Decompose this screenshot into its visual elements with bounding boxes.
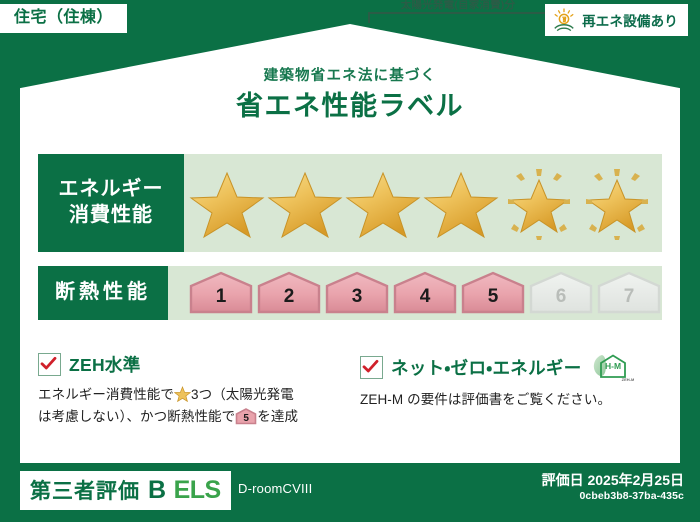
energy-label-line2: 消費性能	[69, 203, 153, 229]
net-zero-energy-statement: ネット・ゼロ・エネルギー H-M ZEH-M ZEH-M の要件は評価書をご覧く…	[360, 352, 660, 411]
bels-logo: 第三者評価 BELS	[20, 471, 231, 510]
insulation-level-number: 5	[460, 286, 526, 308]
insulation-level-house: 3	[324, 271, 390, 315]
third-party-label: 第三者評価	[30, 475, 140, 505]
insulation-row-label: 断熱性能	[38, 266, 168, 320]
room-name: D-roomCVIII	[238, 481, 312, 496]
solar-annotation-label: 太陽光発電(自家消費)分	[362, 0, 554, 12]
svg-text:H-M: H-M	[604, 361, 620, 371]
zeh-text-part3: は考慮しない）、かつ断熱性能で	[38, 409, 235, 424]
insulation-levels-container: 1 2 3 4 5 6	[168, 266, 662, 320]
insulation-level-house: 2	[256, 271, 322, 315]
insulation-performance-row: 断熱性能 1 2 3	[38, 266, 662, 320]
insulation-level-number: 3	[324, 286, 390, 308]
svg-text:ZEH-M: ZEH-M	[621, 377, 633, 382]
bels-letters-els: ELS	[174, 476, 221, 505]
renewable-energy-badge: 再エネ設備あり	[545, 4, 688, 36]
net-zero-title: ネット・ゼロ・エネルギー	[391, 355, 582, 380]
zeh-text-part1: エネルギー消費性能で	[38, 387, 174, 402]
insulation-level-house: 5	[460, 271, 526, 315]
star-rating-icon-solar	[500, 166, 578, 240]
page-title: 省エネ性能ラベル	[0, 84, 700, 123]
renewable-badge-label: 再エネ設備あり	[582, 10, 678, 30]
building-type-tag: 住宅（住棟）	[0, 4, 127, 33]
star-rating-icon-solar	[578, 166, 656, 240]
energy-performance-row: エネルギー 消費性能	[38, 154, 662, 252]
net-zero-text: ZEH-M の要件は評価書をご覧ください。	[360, 389, 660, 411]
evaluation-id: 0cbeb3b8-37ba-435c	[579, 490, 684, 502]
insulation-level-house: 4	[392, 271, 458, 315]
zeh-standard-header: ZEH水準	[38, 352, 338, 377]
zeh-text-part2: 3つ（太陽光発電	[191, 387, 294, 402]
sun-icon	[551, 8, 577, 32]
zeh-m-logo-icon: H-M ZEH-M	[588, 352, 634, 382]
star-rating-icon	[344, 166, 422, 240]
insulation-level-number: 1	[188, 286, 254, 308]
checkbox-checked-icon	[38, 353, 61, 376]
bels-energy-label: 住宅（住棟） 再エネ設備あり 建築物省エネ法に基づく 省エネ性能ラベル	[0, 0, 700, 522]
insulation-level-number: 6	[528, 286, 594, 308]
star-rating-icon	[188, 166, 266, 240]
zeh-standard-title: ZEH水準	[69, 352, 141, 377]
inline-house-icon: 5	[235, 408, 257, 425]
bels-letter-b: B	[148, 476, 166, 505]
insulation-level-number: 7	[596, 286, 662, 308]
zeh-standard-text: エネルギー消費性能で3つ（太陽光発電 は考慮しない）、かつ断熱性能で5を達成	[38, 384, 338, 428]
net-zero-header: ネット・ゼロ・エネルギー H-M ZEH-M	[360, 352, 660, 382]
building-type-label: 住宅（住棟）	[14, 9, 113, 26]
insulation-level-house: 1	[188, 271, 254, 315]
label-subtitle: 建築物省エネ法に基づく	[0, 64, 700, 85]
checkbox-checked-icon	[360, 356, 383, 379]
insulation-level-number: 2	[256, 286, 322, 308]
insulation-level-number: 4	[392, 286, 458, 308]
evaluation-date: 評価日 2025年2月25日	[542, 470, 684, 490]
statement-divider	[349, 350, 350, 428]
energy-label-line1: エネルギー	[59, 177, 164, 203]
energy-row-label: エネルギー 消費性能	[38, 154, 184, 252]
inline-house-value: 5	[235, 411, 257, 427]
zeh-standard-statement: ZEH水準 エネルギー消費性能で3つ（太陽光発電 は考慮しない）、かつ断熱性能で…	[38, 352, 338, 428]
zeh-text-part4: を達成	[257, 409, 298, 424]
solar-annotation-bracket	[368, 12, 552, 23]
star-rating-icon	[266, 166, 344, 240]
insulation-label: 断熱性能	[55, 280, 151, 306]
insulation-level-house-inactive: 6	[528, 271, 594, 315]
inline-star-icon	[174, 386, 191, 402]
star-rating-icon	[422, 166, 500, 240]
energy-stars-container	[184, 154, 662, 252]
insulation-level-house-inactive: 7	[596, 271, 662, 315]
